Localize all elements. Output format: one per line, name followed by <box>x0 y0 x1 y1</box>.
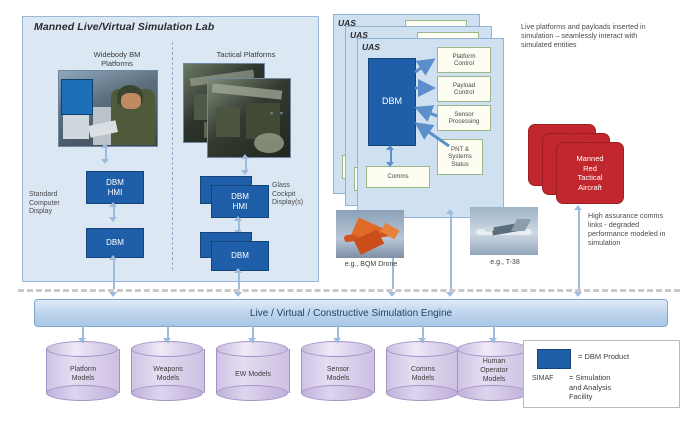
bqm-drone-photo <box>336 210 404 258</box>
red-card-front-manned-red-tactical-aircraft: Manned Red Tactical Aircraft <box>556 142 624 204</box>
legend-swatch-dbm <box>537 349 571 369</box>
arrow-head-right-bus-up <box>234 268 242 273</box>
note-live-platforms: Live platforms and payloads inserted in … <box>521 22 651 49</box>
manned-lab-title: Manned Live/Virtual Simulation Lab <box>34 21 214 33</box>
cylinder-human-operator-models: Human Operator Models <box>457 341 531 401</box>
arrow-into-engine-3 <box>388 292 396 297</box>
legend-simaf-text: = Simulation and Analysis Facility <box>569 373 669 402</box>
dbm-hmi-box-left: DBM HMI <box>86 171 144 204</box>
cylinder-ew-models: EW Models <box>216 341 290 401</box>
connector-head-cyl-2 <box>163 338 171 343</box>
legend-dbm-product-text: = DBM Product <box>578 352 629 362</box>
arrow-head-left-mid-up <box>109 202 117 207</box>
widebody-console-photo <box>58 70 158 147</box>
uas-internal-arrows <box>357 38 502 216</box>
arrow-into-engine-5 <box>574 292 582 297</box>
legend-simaf-key: SIMAF <box>532 374 553 384</box>
lab-column-divider <box>172 42 173 270</box>
tactical-more-ellipsis: ▪ ▪ <box>270 108 285 118</box>
dbm-hmi-box-right: DBM HMI <box>211 185 269 218</box>
arrow-shaft-tactical <box>245 157 247 171</box>
cylinder-comms-models: Comms Models <box>386 341 460 401</box>
arrow-head-tactical-down <box>241 170 249 175</box>
arrow-head-left-bus-up <box>109 255 117 260</box>
arrow-shaft-bqm-bus <box>450 212 452 289</box>
arrow-shaft-widebody <box>105 146 107 160</box>
connector-head-cyl-4 <box>333 338 341 343</box>
cylinder-sensor-models: Sensor Models <box>301 341 375 401</box>
t38-caption: e.g., T-38 <box>466 259 544 266</box>
cylinder-weapons-models: Weapons Models <box>131 341 205 401</box>
t38-photo <box>470 207 538 255</box>
tactical-column-title: Tactical Platforms <box>186 50 306 59</box>
arrow-head-left-mid-down <box>109 217 117 222</box>
arrow-shaft-right-bus <box>238 271 240 289</box>
arrow-into-engine-1 <box>109 292 117 297</box>
note-high-assurance: High assurance comms links - degraded pe… <box>588 211 668 247</box>
arrow-head-uas-comms-up <box>386 145 394 150</box>
connector-head-cyl-5 <box>418 338 426 343</box>
arrow-into-engine-4 <box>446 292 454 297</box>
arrow-head-widebody-up <box>101 143 109 148</box>
arrow-shaft-left-bus <box>113 258 115 289</box>
arrow-shaft-t38-bus <box>578 208 580 289</box>
simulation-engine-bar: Live / Virtual / Constructive Simulation… <box>34 299 668 327</box>
connector-head-cyl-6 <box>489 338 497 343</box>
dbm-box-left: DBM <box>86 228 144 258</box>
arrow-head-right-mid-up <box>234 216 242 221</box>
connector-head-cyl-1 <box>78 338 86 343</box>
bqm-drone-caption: e.g., BQM Drone <box>332 261 410 268</box>
standard-computer-display-label: Standard Computer Display <box>29 173 83 235</box>
arrow-head-uas-comms-down <box>386 162 394 167</box>
arrow-head-tactical-up <box>241 154 249 159</box>
widebody-column-title: Widebody BM Platforms <box>62 50 172 68</box>
cylinder-platform-models: Platform Models <box>46 341 120 401</box>
glass-cockpit-display-label: Glass Cockpit Display(s) <box>272 182 318 208</box>
dbm-box-right: DBM <box>211 241 269 271</box>
arrow-head-bqm-bus-up <box>446 209 454 214</box>
arrow-head-widebody-down <box>101 159 109 164</box>
connector-head-cyl-3 <box>248 338 256 343</box>
tactical-cockpit-photo-front <box>207 78 291 158</box>
diagram-canvas: Manned Live/Virtual Simulation Lab Wideb… <box>0 0 698 425</box>
arrow-into-engine-2 <box>234 292 242 297</box>
arrow-head-t38-bus-up <box>574 205 582 210</box>
